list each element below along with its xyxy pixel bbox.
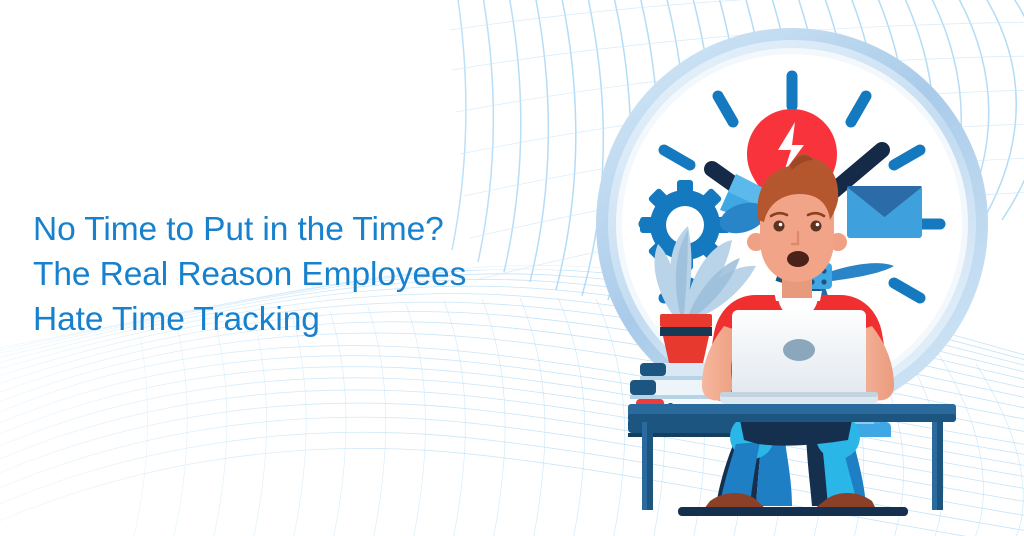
floor-line — [678, 507, 908, 516]
page-title: No Time to Put in the Time? The Real Rea… — [33, 207, 553, 342]
headline-line-2: The Real Reason Employees — [33, 252, 553, 297]
laptop — [720, 310, 878, 404]
hero-banner: No Time to Put in the Time? The Real Rea… — [0, 0, 1024, 536]
headline-line-1: No Time to Put in the Time? — [33, 207, 553, 252]
hero-illustration — [560, 14, 1024, 536]
envelope-icon — [847, 186, 922, 238]
desk — [628, 404, 956, 510]
headline-line-3: Hate Time Tracking — [33, 297, 553, 342]
